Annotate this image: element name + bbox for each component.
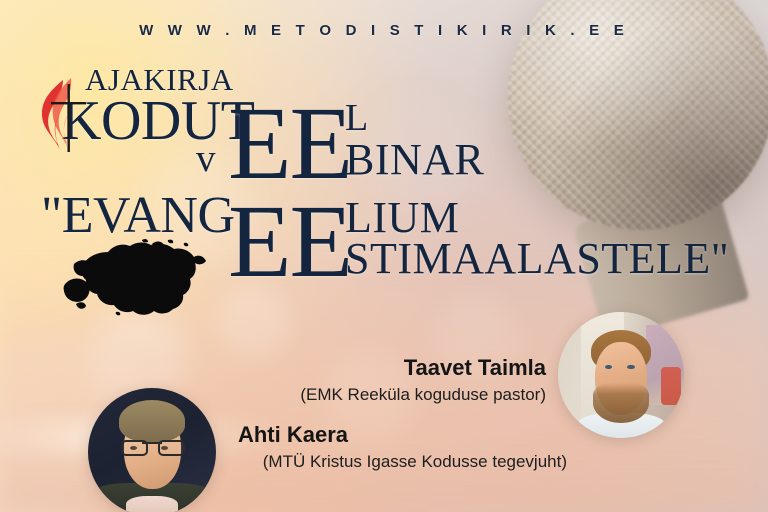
speaker-name-1: Taavet Taimla [404,355,546,381]
webinar-poster: W W W . M E T O D I S T I K I R I K . E … [0,0,768,512]
estonia-map-silhouette [56,238,216,320]
website-url: W W W . M E T O D I S T I K I R I K . E … [0,22,768,39]
portrait-beard [593,383,648,423]
portrait-collar [126,496,177,512]
speaker-name-2: Ahti Kaera [238,422,348,448]
portrait-hair [119,400,186,442]
avatar [558,312,684,438]
taavet-taimla-portrait [558,312,684,438]
speaker-role-2: (MTÜ Kristus Igasse Kodusse tegevjuht) [263,452,567,472]
cross-and-flame-icon [33,74,95,156]
glasses-lens-right [158,440,185,455]
avatar [88,388,216,512]
glasses-bridge [142,442,162,444]
ahti-kaera-portrait [88,388,216,512]
portrait-bg-accent [661,367,681,405]
microphone-photo [490,0,768,294]
speaker-role-1: (EMK Reeküla koguduse pastor) [300,385,546,405]
